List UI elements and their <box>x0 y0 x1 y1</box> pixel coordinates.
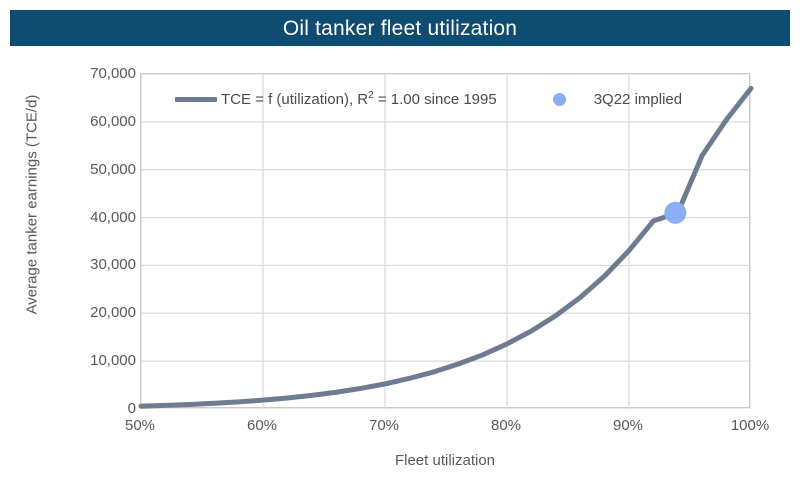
legend-item-implied-point[interactable]: 3Q22 implied <box>553 92 682 107</box>
data-series-layer <box>141 74 751 409</box>
chart-figure: Oil tanker fleet utilization 010,00020,0… <box>0 0 801 479</box>
data-point-implied <box>664 202 686 224</box>
x-axis-tick-label: 60% <box>217 418 307 433</box>
chart-legend: TCE = f (utilization), R2 = 1.00 since 1… <box>175 88 682 110</box>
y-axis-title: Average tanker earnings (TCE/d) <box>24 55 41 355</box>
y-axis-tick-label: 0 <box>4 401 136 416</box>
legend-item-fit-line[interactable]: TCE = f (utilization), R2 = 1.00 since 1… <box>175 92 497 107</box>
line-swatch-icon <box>175 97 217 102</box>
legend-label-fit: TCE = f (utilization), R2 = 1.00 since 1… <box>221 92 497 107</box>
x-axis-tick-label: 100% <box>705 418 795 433</box>
series-line-fit <box>141 88 751 406</box>
y-axis-tick-labels: 010,00020,00030,00040,00050,00060,00070,… <box>0 0 136 479</box>
page-title: Oil tanker fleet utilization <box>283 18 517 39</box>
legend-label-implied: 3Q22 implied <box>594 92 682 107</box>
x-axis-tick-label: 70% <box>339 418 429 433</box>
x-axis-title: Fleet utilization <box>140 452 750 469</box>
x-axis-tick-labels: 50%60%70%80%90%100% <box>0 418 801 442</box>
x-axis-tick-label: 80% <box>461 418 551 433</box>
x-axis-tick-label: 90% <box>583 418 673 433</box>
y-axis-tick-label: 10,000 <box>4 353 136 368</box>
dot-swatch-icon <box>553 93 566 106</box>
x-axis-tick-label: 50% <box>95 418 185 433</box>
plot-area <box>140 73 750 408</box>
